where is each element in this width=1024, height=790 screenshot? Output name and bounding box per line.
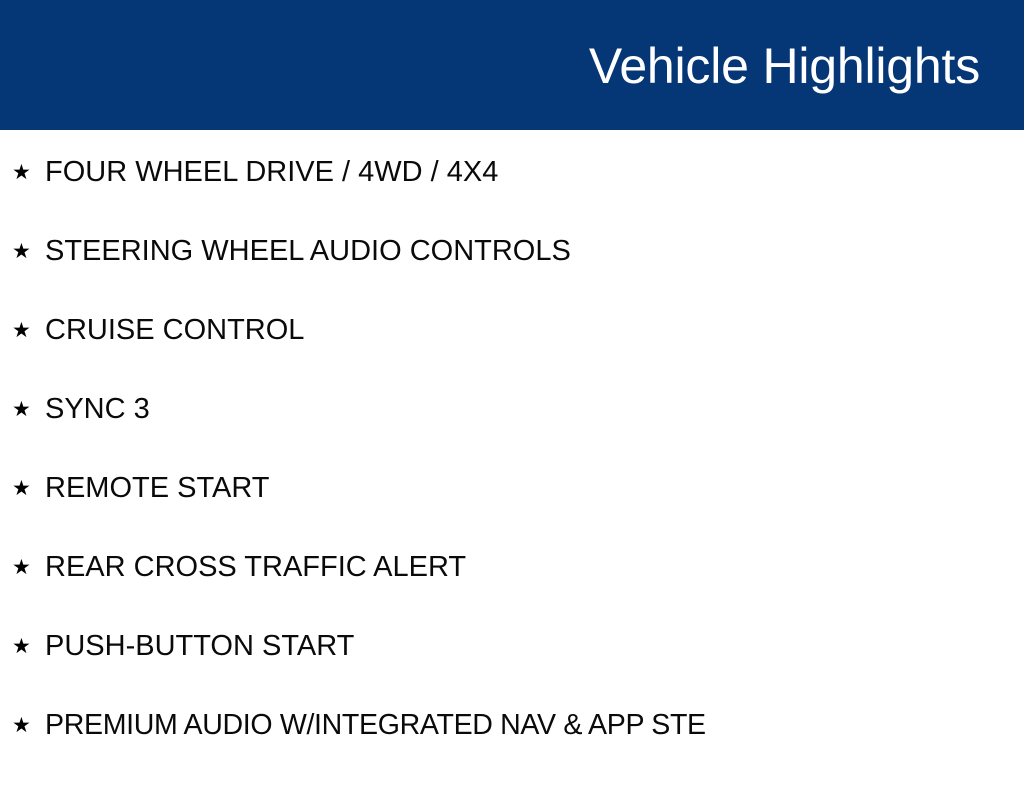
highlight-label: CRUISE CONTROL: [45, 316, 1024, 345]
vehicle-highlights-list: ★ FOUR WHEEL DRIVE / 4WD / 4X4 ★ STEERIN…: [0, 130, 1024, 768]
header-band: Vehicle Highlights: [0, 0, 1024, 130]
list-item: ★ REAR CROSS TRAFFIC ALERT: [0, 553, 1024, 632]
highlight-label: REMOTE START: [45, 474, 1024, 503]
highlight-label: REAR CROSS TRAFFIC ALERT: [45, 553, 1024, 582]
page-title: Vehicle Highlights: [589, 41, 980, 91]
vehicle-highlights-slide: Vehicle Highlights ★ FOUR WHEEL DRIVE / …: [0, 0, 1024, 768]
list-item: ★ STEERING WHEEL AUDIO CONTROLS: [0, 237, 1024, 316]
star-bullet-icon: ★: [12, 478, 45, 499]
highlight-label: STEERING WHEEL AUDIO CONTROLS: [45, 237, 1024, 266]
list-item: ★ CRUISE CONTROL: [0, 316, 1024, 395]
list-item: ★ FOUR WHEEL DRIVE / 4WD / 4X4: [0, 130, 1024, 237]
star-bullet-icon: ★: [12, 399, 45, 420]
star-bullet-icon: ★: [12, 557, 45, 578]
highlight-label: SYNC 3: [45, 395, 1024, 424]
star-bullet-icon: ★: [12, 320, 45, 341]
highlight-label: PUSH-BUTTON START: [45, 632, 1024, 661]
list-item: ★ SYNC 3: [0, 395, 1024, 474]
star-bullet-icon: ★: [12, 162, 45, 183]
list-item: ★ PREMIUM AUDIO W/INTEGRATED NAV & APP S…: [0, 711, 1024, 790]
highlight-label: PREMIUM AUDIO W/INTEGRATED NAV & APP STE: [45, 711, 1009, 740]
highlight-label: FOUR WHEEL DRIVE / 4WD / 4X4: [45, 158, 1024, 187]
list-item: ★ REMOTE START: [0, 474, 1024, 553]
star-bullet-icon: ★: [12, 715, 45, 736]
list-item: ★ PUSH-BUTTON START: [0, 632, 1024, 711]
star-bullet-icon: ★: [12, 241, 45, 262]
star-bullet-icon: ★: [12, 636, 45, 657]
